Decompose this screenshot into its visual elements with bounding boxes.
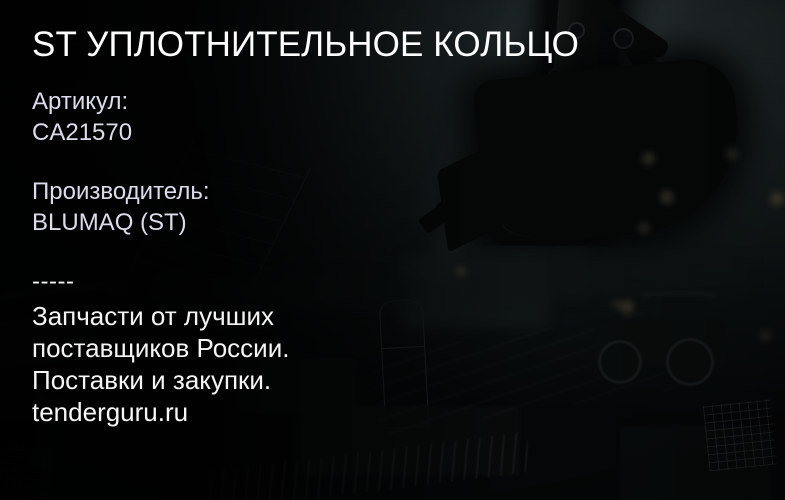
field-article-value: CA21570 [32, 117, 132, 148]
banner-content: ST УПЛОТНИТЕЛЬНОЕ КОЛЬЦО Артикул: CA2157… [32, 0, 552, 500]
tagline-line-2: поставщиков России. [32, 332, 289, 364]
field-manufacturer-label: Производитель: [32, 176, 210, 207]
tagline-block: Запчасти от лучших поставщиков России. П… [32, 300, 289, 428]
tagline-line-3: Поставки и закупки. [32, 364, 289, 396]
field-article-label: Артикул: [32, 86, 132, 117]
page-title: ST УПЛОТНИТЕЛЬНОЕ КОЛЬЦО [32, 27, 579, 62]
product-banner: ST УПЛОТНИТЕЛЬНОЕ КОЛЬЦО Артикул: CA2157… [0, 0, 785, 500]
field-article: Артикул: CA21570 [32, 86, 132, 148]
text-divider: ----- [32, 270, 74, 294]
field-manufacturer: Производитель: BLUMAQ (ST) [32, 176, 210, 238]
tagline-line-1: Запчасти от лучших [32, 300, 289, 332]
field-manufacturer-value: BLUMAQ (ST) [32, 207, 210, 238]
website-url: tenderguru.ru [32, 396, 289, 428]
